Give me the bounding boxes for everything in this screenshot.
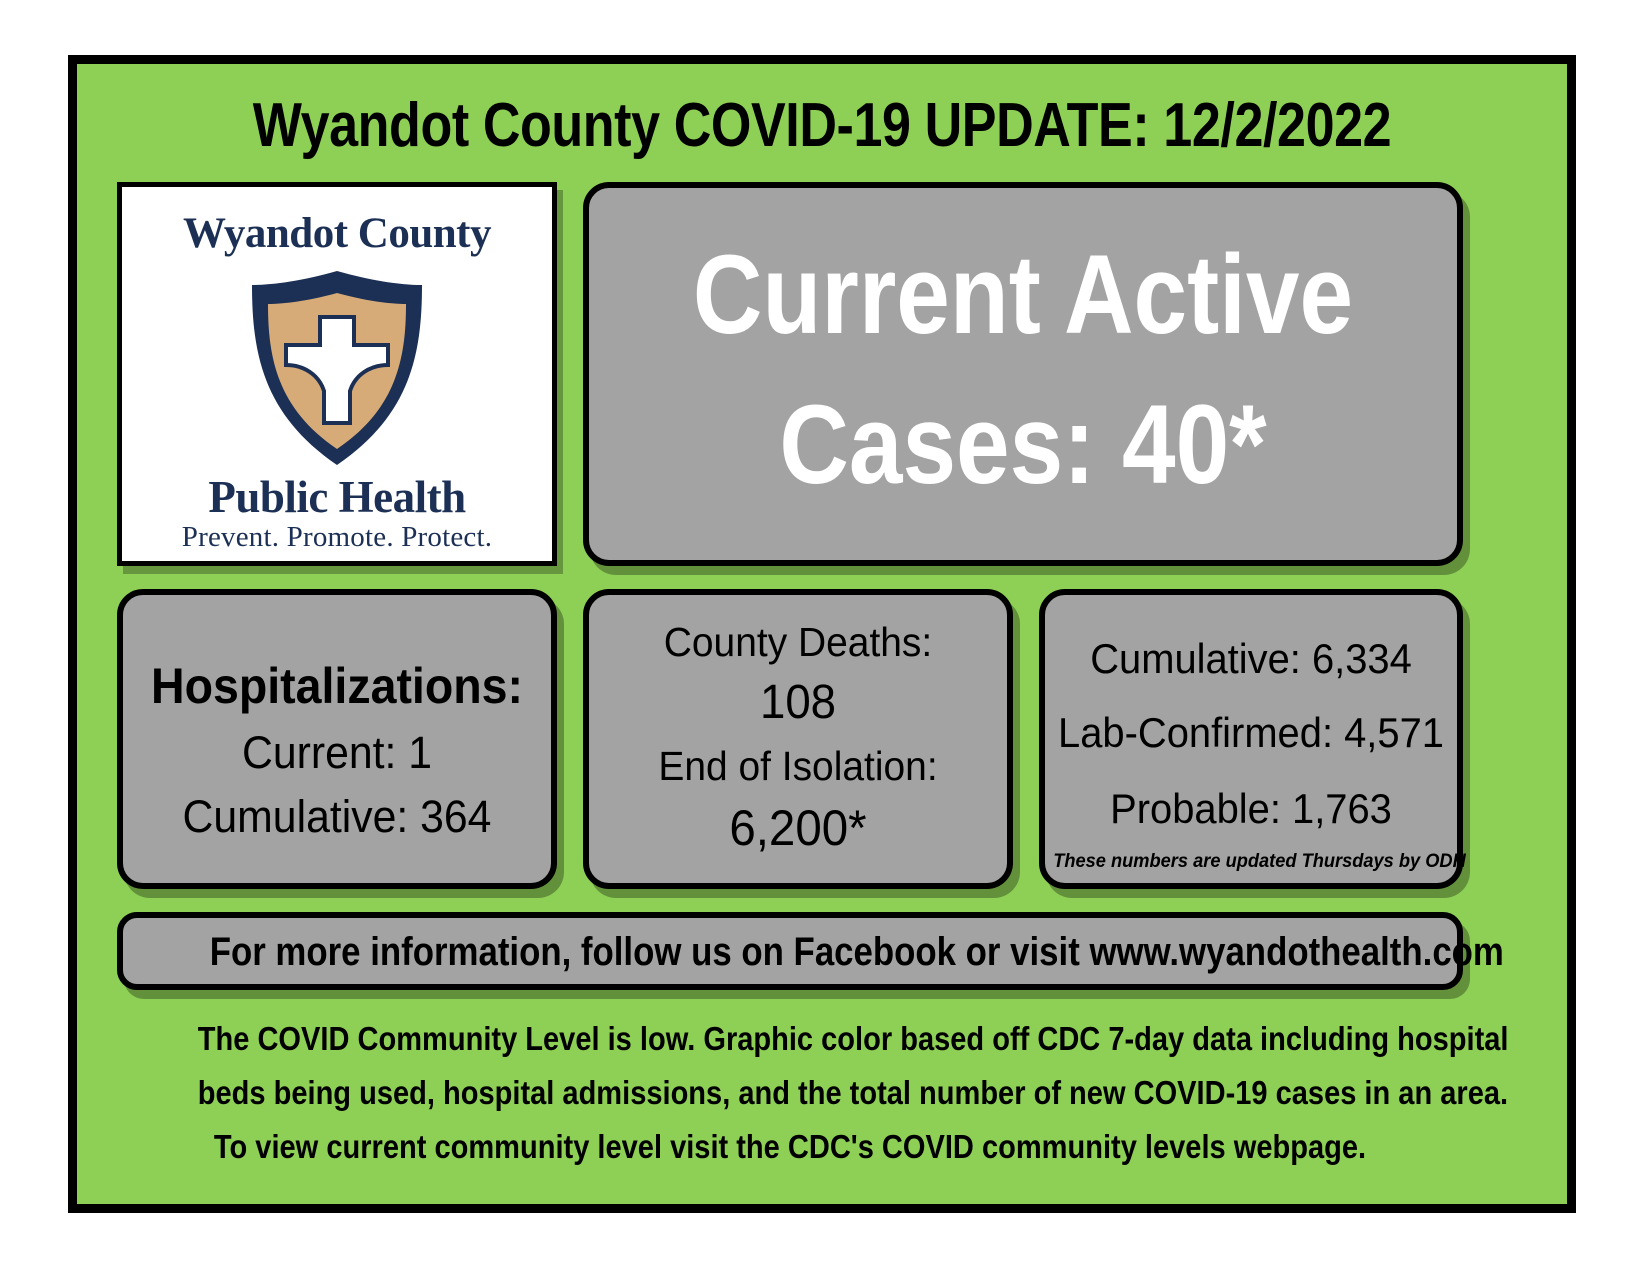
cumulative-probable: Probable: 1,763	[1055, 785, 1446, 833]
active-cases-text: Current Active Cases: 40*	[650, 220, 1396, 520]
end-of-isolation-label: End of Isolation:	[599, 743, 996, 790]
community-level-line-1: The COVID Community Level is low. Graphi…	[198, 1012, 1382, 1066]
county-deaths-value: 108	[599, 675, 996, 730]
cumulative-total: Cumulative: 6,334	[1055, 635, 1446, 683]
cumulative-lab-confirmed: Lab-Confirmed: 4,571	[1055, 709, 1446, 757]
county-deaths-label: County Deaths:	[599, 619, 996, 666]
hospitalizations-cumulative: Cumulative: 364	[134, 791, 541, 843]
active-cases-panel: Current Active Cases: 40*	[583, 182, 1463, 566]
page-title: Wyandot County COVID-19 UPDATE: 12/2/202…	[196, 90, 1448, 161]
hospitalizations-title: Hospitalizations:	[138, 657, 536, 715]
logo-bottom-text: Public Health	[122, 471, 552, 523]
logo-top-text: Wyandot County	[122, 209, 552, 258]
community-level-line-3: To view current community level visit th…	[198, 1120, 1382, 1174]
agency-logo-card: Wyandot County Public Health Prevent. Pr…	[117, 182, 557, 566]
cumulative-totals-panel: Cumulative: 6,334 Lab-Confirmed: 4,571 P…	[1039, 589, 1463, 889]
community-level-line-2: beds being used, hospital admissions, an…	[198, 1066, 1382, 1120]
more-information-text[interactable]: For more information, follow us on Faceb…	[210, 930, 1371, 975]
active-cases-line1: Current Active	[650, 220, 1396, 370]
shield-with-cross-icon	[122, 265, 552, 473]
end-of-isolation-value: 6,200*	[599, 799, 996, 857]
hospitalizations-current: Current: 1	[134, 727, 541, 779]
active-cases-line2: Cases: 40*	[650, 370, 1396, 520]
poster-container: Wyandot County COVID-19 UPDATE: 12/2/202…	[68, 55, 1576, 1213]
hospitalizations-panel: Hospitalizations: Current: 1 Cumulative:…	[117, 589, 557, 889]
logo-tagline: Prevent. Promote. Protect.	[122, 521, 552, 554]
county-deaths-panel: County Deaths: 108 End of Isolation: 6,2…	[583, 589, 1013, 889]
community-level-note: The COVID Community Level is low. Graphi…	[117, 1012, 1463, 1174]
cumulative-note: These numbers are updated Thursdays by O…	[1053, 851, 1449, 873]
more-information-bar[interactable]: For more information, follow us on Faceb…	[117, 912, 1463, 990]
